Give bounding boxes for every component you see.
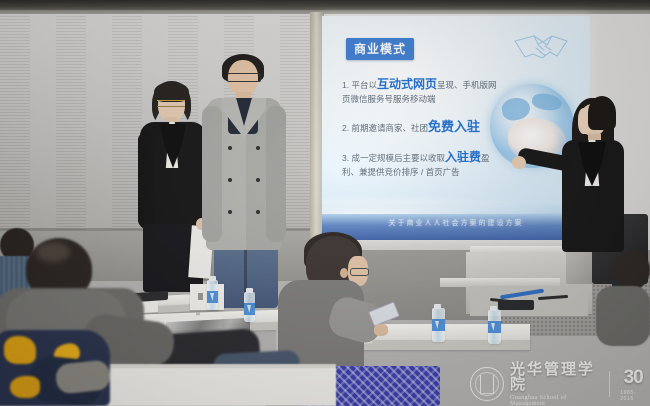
tent-card-text <box>198 293 203 300</box>
anniversary-years: 1985-2015 <box>620 390 646 402</box>
school-name-block: 光华管理学院 Guanghua School of Management <box>510 362 599 406</box>
jacket-yellow-lining <box>10 376 40 398</box>
bullet-highlight: 入驻费 <box>445 150 481 164</box>
slide-bullet-1: 1. 平台以互动式网页呈现、手机版网页微信服务号服务移动端 <box>342 76 502 106</box>
bullet-prefix: 前期邀请商家、社团 <box>351 123 428 133</box>
coat-button <box>256 178 260 182</box>
coat-button <box>228 178 232 182</box>
arm-left <box>202 106 222 242</box>
keyboard <box>498 300 534 310</box>
eyeglasses <box>157 100 185 107</box>
arm <box>138 132 154 228</box>
jacket-yellow-lining <box>4 336 36 364</box>
coat-button <box>256 146 260 150</box>
water-bottle <box>207 280 218 310</box>
coat-button <box>228 146 232 150</box>
anniversary-badge: 30 1985-2015 <box>620 367 646 402</box>
water-bottle <box>244 292 255 322</box>
school-name-english: Guanghua School of Management <box>510 395 599 406</box>
slide-bullet-list: 1. 平台以互动式网页呈现、手机版网页微信服务号服务移动端 2. 前期邀请商家、… <box>342 76 502 190</box>
head <box>614 250 650 290</box>
bullet-highlight: 互动式网页 <box>377 77 437 91</box>
globe-landmass <box>531 92 563 112</box>
hair-front <box>588 96 616 130</box>
anniversary-number: 30 <box>624 367 643 389</box>
bullet-highlight: 免费入驻 <box>428 119 480 134</box>
torso <box>596 286 650 346</box>
handshake-icon <box>512 30 570 68</box>
front-table <box>96 368 336 406</box>
slide-title: 商业模式 <box>346 38 414 60</box>
projection-screen: 商业模式 1. 平台以互动式网页呈现、手机版网页微信服务号服务移动端 2. 前期… <box>322 16 590 240</box>
bullet-number: 3. <box>342 153 349 163</box>
water-bottle <box>432 308 445 342</box>
eyeglasses <box>350 268 369 276</box>
coat-button <box>256 210 260 214</box>
bullet-number: 1. <box>342 80 349 90</box>
slide-bullet-3: 3. 成一定规模后主要以收取入驻费盈利、兼提供竞价排序 / 首页广告 <box>342 149 502 179</box>
arm-right <box>266 106 286 242</box>
slide-wave-graphic <box>322 192 590 214</box>
watermark-divider <box>609 371 610 397</box>
ear <box>340 268 348 278</box>
eyeglasses <box>227 73 261 82</box>
hair-highlight <box>36 242 70 262</box>
bullet-prefix: 成一定规模后主要以收取 <box>351 153 445 163</box>
bullet-prefix: 平台以 <box>351 80 377 90</box>
hand <box>374 324 388 336</box>
slide-bullet-2: 2. 前期邀请商家、社团免费入驻 <box>342 118 502 137</box>
school-name-chinese: 光华管理学院 <box>510 362 599 392</box>
classroom-presentation-photo: 商业模式 1. 平台以互动式网页呈现、手机版网页微信服务号服务移动端 2. 前期… <box>0 0 650 406</box>
water-bottle <box>488 310 501 344</box>
school-watermark: 光华管理学院 Guanghua School of Management 30 … <box>470 366 646 402</box>
school-seal-icon <box>470 367 504 401</box>
coat-button <box>228 210 232 214</box>
hair-top <box>154 82 189 102</box>
bullet-number: 2. <box>342 123 349 133</box>
slide-footer-text: 关于商业人人社会方案的建设方案 <box>322 218 590 228</box>
